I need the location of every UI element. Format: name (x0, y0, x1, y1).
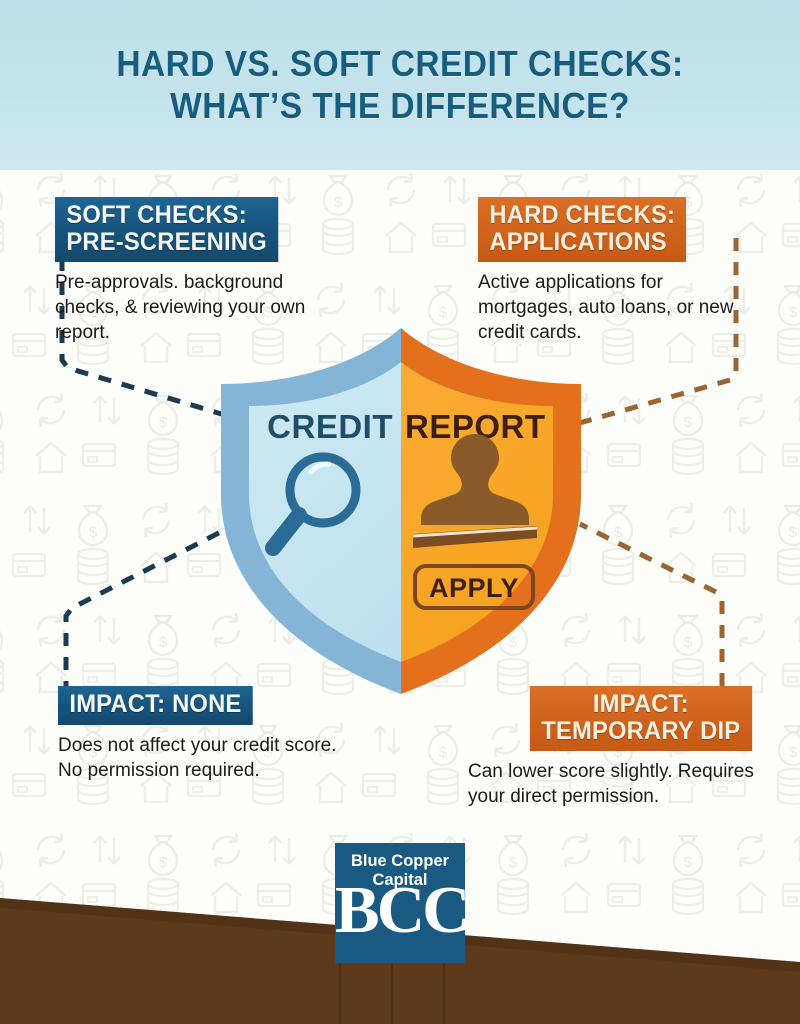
banner-hard-checks-line1: HARD CHECKS: (489, 201, 675, 229)
logo-name-line1: Blue Copper (351, 852, 449, 870)
body-hard-checks: Active applications for mortgages, auto … (478, 270, 748, 345)
page-title-line2: WHAT’S THE DIFFERENCE? (116, 85, 683, 127)
connector-impact-dip (580, 524, 722, 686)
body-impact-none: Does not affect your credit score. No pe… (58, 733, 358, 783)
header-band: HARD VS. SOFT CREDIT CHECKS: WHAT’S THE … (0, 0, 800, 170)
banner-soft-checks-line2: PRE-SCREENING (66, 228, 266, 256)
banner-impact-none-line1: IMPACT: NONE (69, 690, 241, 718)
company-logo: Blue Copper Capital BCC (335, 843, 465, 979)
body-soft-checks: Pre-approvals. background checks, & revi… (55, 270, 335, 345)
callout-hard-checks: HARD CHECKS: APPLICATIONS Active applica… (478, 197, 748, 345)
banner-soft-checks-line1: SOFT CHECKS: (66, 201, 246, 229)
callout-soft-checks: SOFT CHECKS: PRE-SCREENING Pre-approvals… (55, 197, 335, 345)
credit-report-shield: CREDIT REPORT APPLY (215, 322, 587, 700)
banner-impact-dip-line2: TEMPORARY DIP (542, 717, 741, 745)
page-title-line1: HARD VS. SOFT CREDIT CHECKS: (116, 43, 683, 84)
shield-label-credit: CREDIT (267, 408, 393, 445)
banner-hard-checks-line2: APPLICATIONS (489, 228, 666, 256)
stamp-apply-label: APPLY (429, 573, 519, 603)
banner-impact-none: IMPACT: NONE (58, 686, 253, 725)
logo-monogram: BCC (335, 877, 465, 944)
page-title: HARD VS. SOFT CREDIT CHECKS: WHAT’S THE … (116, 43, 683, 128)
banner-impact-dip-line1: IMPACT: (593, 690, 689, 718)
banner-impact-dip: IMPACT: TEMPORARY DIP (530, 686, 752, 751)
callout-impact-dip: IMPACT: TEMPORARY DIP Can lower score sl… (468, 686, 758, 809)
callout-impact-none: IMPACT: NONE Does not affect your credit… (58, 686, 358, 783)
body-impact-dip: Can lower score slightly. Requires your … (468, 759, 758, 809)
banner-soft-checks: SOFT CHECKS: PRE-SCREENING (55, 197, 278, 262)
banner-hard-checks: HARD CHECKS: APPLICATIONS (478, 197, 686, 262)
infographic-canvas: $ (0, 0, 800, 1024)
